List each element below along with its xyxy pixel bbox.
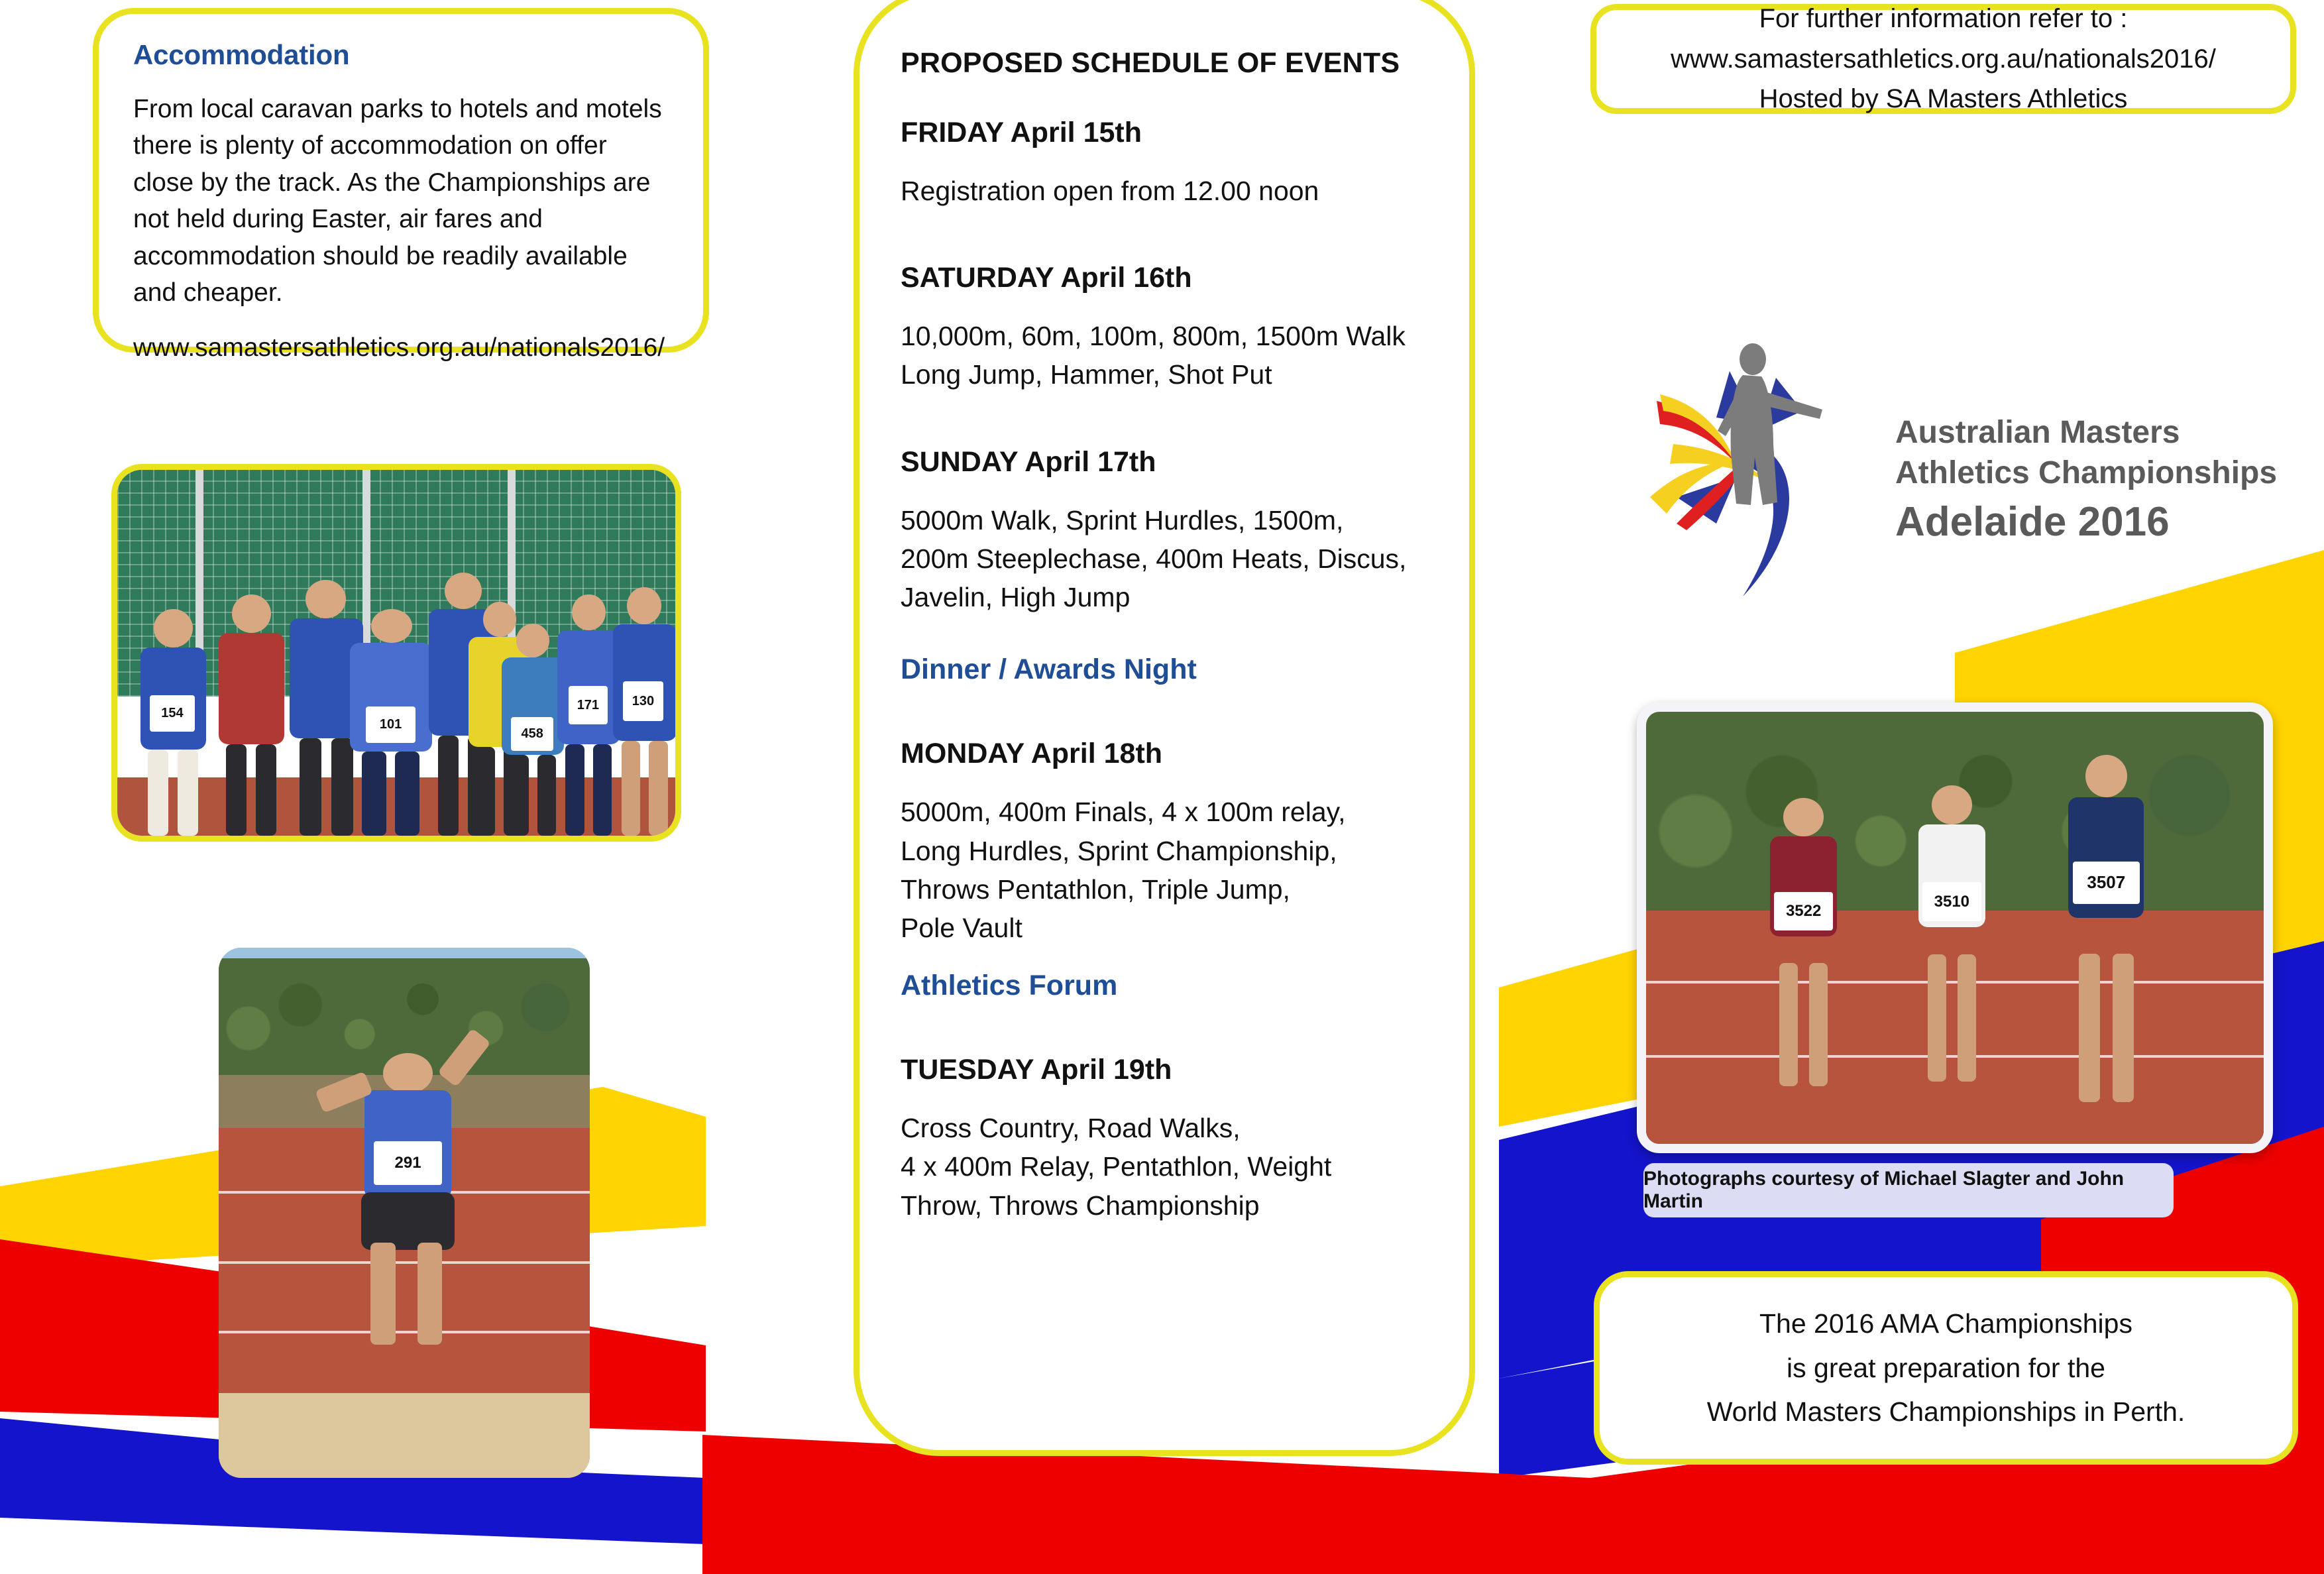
bib-number: 3510 — [1922, 882, 1981, 921]
schedule-athletics-forum: Athletics Forum — [901, 970, 1428, 1002]
schedule-sunday-events-2: 200m Steeplechase, 400m Heats, Discus, — [901, 539, 1428, 578]
schedule-dinner-awards-night: Dinner / Awards Night — [901, 653, 1428, 686]
brochure-page: Accommodation From local caravan parks t… — [0, 0, 2324, 1574]
bib-number: 291 — [374, 1141, 442, 1186]
schedule-tuesday-events-1: Cross Country, Road Walks, — [901, 1109, 1428, 1147]
photo-runners-on-track: 3522 3510 3507 — [1637, 703, 2273, 1153]
bib-number: 101 — [366, 706, 415, 743]
schedule-title: PROPOSED SCHEDULE OF EVENTS — [901, 47, 1428, 80]
schedule-sunday-events-1: 5000m Walk, Sprint Hurdles, 1500m, — [901, 501, 1428, 539]
info-line-1: For further information refer to : — [1759, 0, 2128, 39]
photo-group-of-athletes: 154 101 — [111, 464, 681, 842]
accommodation-card: Accommodation From local caravan parks t… — [93, 8, 709, 353]
logo-line-2: Athletics Championships — [1895, 453, 2277, 493]
schedule-monday-events-4: Pole Vault — [901, 909, 1428, 947]
logo-line-3: Adelaide 2016 — [1895, 496, 2277, 548]
schedule-saturday-events-2: Long Jump, Hammer, Shot Put — [901, 355, 1428, 394]
bib-number: 171 — [569, 686, 608, 724]
perth-preparation-card: The 2016 AMA Championships is great prep… — [1594, 1271, 2298, 1465]
bib-number: 3522 — [1774, 892, 1833, 930]
accommodation-title: Accommodation — [133, 39, 669, 71]
schedule-tuesday-events-3: Throw, Throws Championship — [901, 1186, 1428, 1225]
schedule-monday-events-1: 5000m, 400m Finals, 4 x 100m relay, — [901, 793, 1428, 831]
schedule-day-tuesday: TUESDAY April 19th — [901, 1054, 1428, 1086]
logo-line-1: Australian Masters — [1895, 412, 2277, 453]
schedule-day-saturday: SATURDAY April 16th — [901, 262, 1428, 294]
bib-number: 3507 — [2073, 862, 2140, 904]
accommodation-url[interactable]: www.samastersathletics.org.au/nationals2… — [133, 333, 669, 363]
schedule-sunday-events-3: Javelin, High Jump — [901, 578, 1428, 616]
schedule-saturday-events-1: 10,000m, 60m, 100m, 800m, 1500m Walk — [901, 317, 1428, 355]
photo-credit-text: Photographs courtesy of Michael Slagter … — [1643, 1168, 2174, 1213]
info-host: Hosted by SA Masters Athletics — [1759, 79, 2128, 119]
schedule-monday-events-3: Throws Pentathlon, Triple Jump, — [901, 870, 1428, 909]
logo-mark-icon — [1637, 331, 1902, 610]
photo-long-jump: 291 — [219, 948, 590, 1478]
info-website-url[interactable]: www.samastersathletics.org.au/nationals2… — [1671, 39, 2216, 80]
further-information-card: For further information refer to : www.s… — [1590, 4, 2296, 114]
schedule-day-sunday: SUNDAY April 17th — [901, 446, 1428, 478]
schedule-friday-events: Registration open from 12.00 noon — [901, 172, 1428, 210]
schedule-day-friday: FRIDAY April 15th — [901, 117, 1428, 149]
schedule-day-monday: MONDAY April 18th — [901, 738, 1428, 770]
ribbon-white-bottom-notch — [0, 1524, 702, 1574]
bib-number: 154 — [150, 695, 195, 732]
bib-number: 130 — [623, 681, 663, 721]
perth-line-1: The 2016 AMA Championships — [1759, 1302, 2132, 1345]
perth-line-3: World Masters Championships in Perth. — [1707, 1390, 2186, 1433]
schedule-monday-events-2: Long Hurdles, Sprint Championship, — [901, 832, 1428, 870]
bib-number: 458 — [511, 717, 553, 751]
perth-line-2: is great preparation for the — [1787, 1346, 2105, 1390]
ama-adelaide-2016-logo: Australian Masters Athletics Championshi… — [1637, 331, 2293, 610]
accommodation-body: From local caravan parks to hotels and m… — [133, 91, 669, 311]
schedule-tuesday-events-2: 4 x 400m Relay, Pentathlon, Weight — [901, 1147, 1428, 1186]
schedule-card: PROPOSED SCHEDULE OF EVENTS FRIDAY April… — [854, 0, 1475, 1456]
photo-credit-caption: Photographs courtesy of Michael Slagter … — [1643, 1163, 2174, 1217]
